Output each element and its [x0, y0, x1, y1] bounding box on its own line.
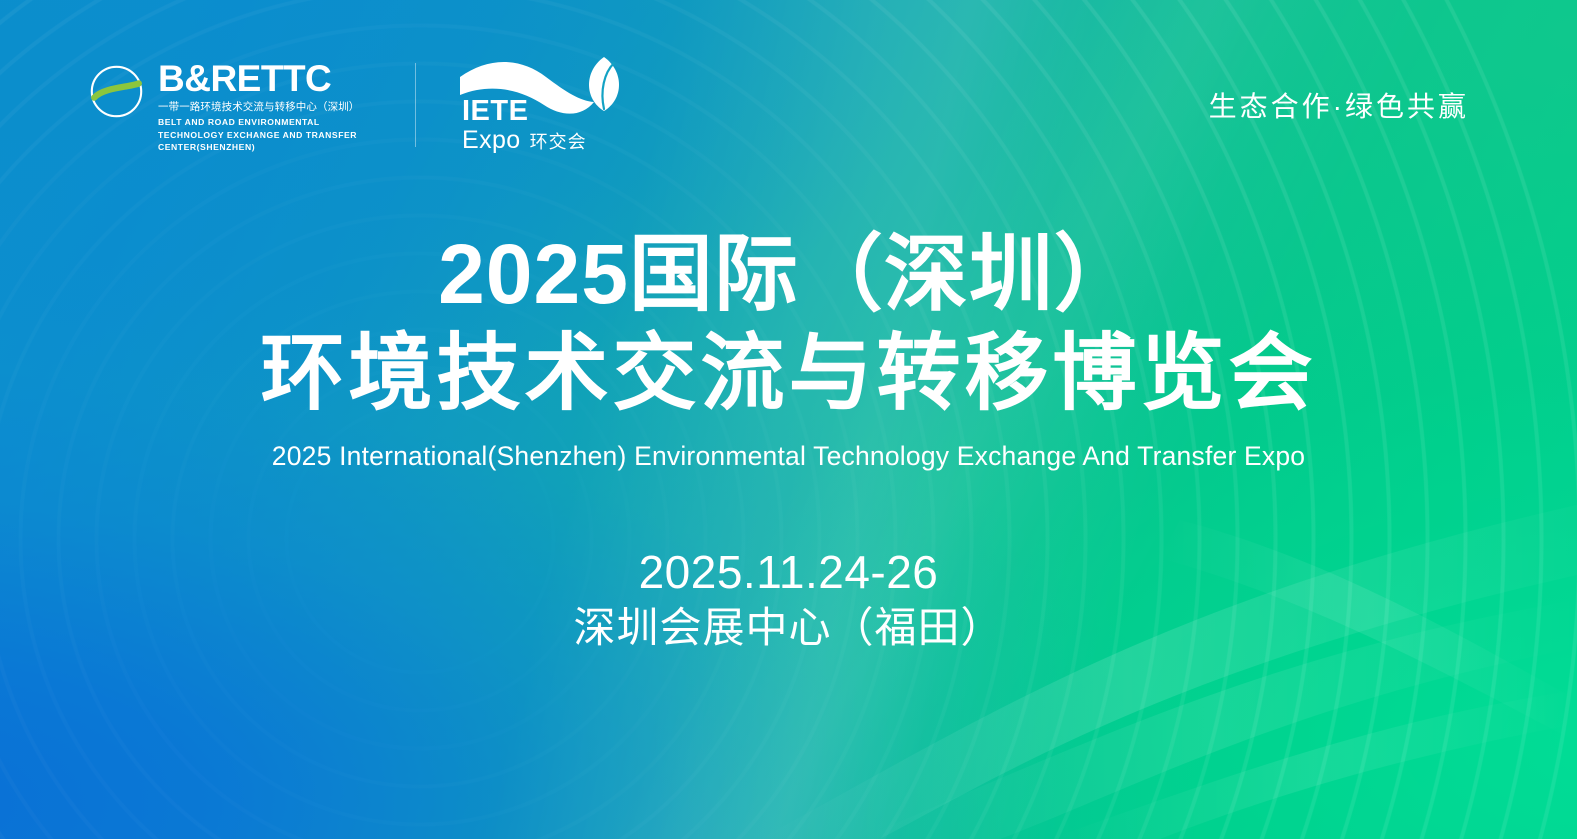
event-slogan: 生态合作·绿色共赢 — [1209, 85, 1469, 125]
iete-text-block: IETE Expo 环交会 — [462, 97, 587, 153]
event-title-line-1: 2025国际（深圳） — [438, 232, 1139, 318]
event-title-line-2: 环境技术交流与转移博览会 — [260, 328, 1316, 419]
brettc-english-name: BELT AND ROAD ENVIRONMENTAL TECHNOLOGY E… — [158, 116, 373, 153]
iete-chinese-label: 环交会 — [530, 133, 587, 151]
logo-brettc[interactable]: B&RETTC 一带一路环境技术交流与转移中心（深圳） BELT AND ROA… — [88, 57, 373, 153]
brettc-wordmark: B&RETTC — [158, 61, 373, 96]
iete-expo-label: Expo — [462, 128, 521, 153]
event-venue: 深圳会展中心（福田） — [573, 602, 1003, 655]
event-banner: B&RETTC 一带一路环境技术交流与转移中心（深圳） BELT AND ROA… — [0, 0, 1577, 839]
logo-divider — [415, 63, 416, 147]
banner-header: B&RETTC 一带一路环境技术交流与转移中心（深圳） BELT AND ROA… — [0, 0, 1577, 210]
iete-wordmark: IETE — [462, 97, 587, 126]
event-date: 2025.11.24-26 — [573, 546, 1003, 599]
event-meta: 2025.11.24-26 深圳会展中心（福田） — [573, 546, 1003, 654]
event-subtitle-english: 2025 International(Shenzhen) Environment… — [272, 441, 1305, 472]
logo-group: B&RETTC 一带一路环境技术交流与转移中心（深圳） BELT AND ROA… — [88, 55, 626, 155]
brettc-chinese-name: 一带一路环境技术交流与转移中心（深圳） — [158, 100, 373, 114]
globe-icon — [88, 63, 145, 120]
brettc-text-block: B&RETTC 一带一路环境技术交流与转移中心（深圳） BELT AND ROA… — [158, 61, 373, 153]
logo-iete[interactable]: IETE Expo 环交会 — [458, 55, 626, 155]
banner-main-content: 2025国际（深圳） 环境技术交流与转移博览会 2025 Internation… — [0, 232, 1577, 654]
